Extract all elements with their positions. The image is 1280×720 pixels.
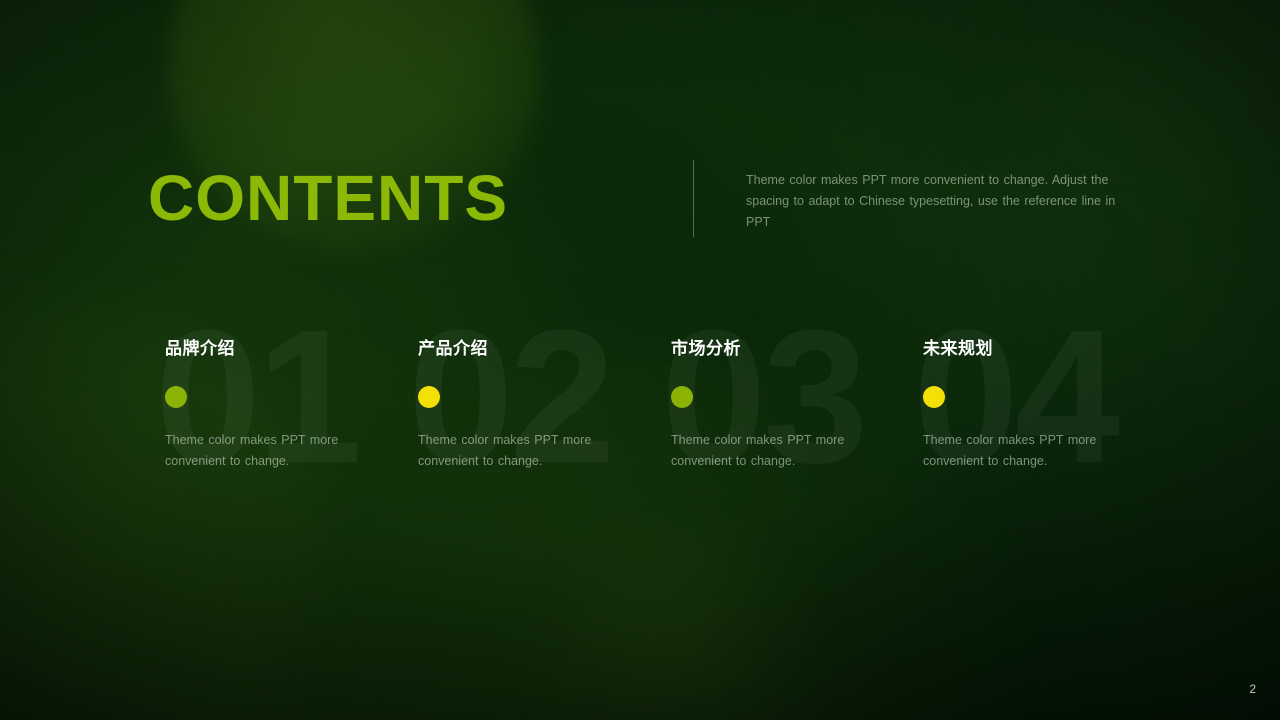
content-item-body: Theme color makes PPT more convenient to… bbox=[418, 430, 594, 472]
title-divider-line bbox=[693, 160, 694, 237]
slide-header: CONTENTS Theme color makes PPT more conv… bbox=[0, 0, 1280, 300]
page-title: CONTENTS bbox=[148, 166, 508, 230]
bullet-dot-icon bbox=[671, 386, 693, 408]
content-item-body: Theme color makes PPT more convenient to… bbox=[923, 430, 1123, 472]
intro-paragraph: Theme color makes PPT more convenient to… bbox=[746, 170, 1118, 233]
page-number: 2 bbox=[1249, 683, 1256, 695]
bullet-dot-icon bbox=[165, 386, 187, 408]
bullet-dot-icon bbox=[418, 386, 440, 408]
content-item-01[interactable]: 01 品牌介绍 Theme color makes PPT more conve… bbox=[165, 340, 415, 472]
content-item-heading: 未来规划 bbox=[923, 340, 1173, 360]
content-item-heading: 市场分析 bbox=[671, 340, 921, 360]
slide-contents: CONTENTS Theme color makes PPT more conv… bbox=[0, 0, 1280, 720]
content-item-heading: 品牌介绍 bbox=[165, 340, 415, 360]
content-item-02[interactable]: 02 产品介绍 Theme color makes PPT more conve… bbox=[418, 340, 668, 472]
content-item-body: Theme color makes PPT more convenient to… bbox=[165, 430, 365, 472]
content-item-03[interactable]: 03 市场分析 Theme color makes PPT more conve… bbox=[671, 340, 921, 472]
contents-columns: 01 品牌介绍 Theme color makes PPT more conve… bbox=[0, 340, 1280, 540]
bullet-dot-icon bbox=[923, 386, 945, 408]
content-item-heading: 产品介绍 bbox=[418, 340, 668, 360]
content-item-04[interactable]: 04 未来规划 Theme color makes PPT more conve… bbox=[923, 340, 1173, 472]
content-item-body: Theme color makes PPT more convenient to… bbox=[671, 430, 871, 472]
